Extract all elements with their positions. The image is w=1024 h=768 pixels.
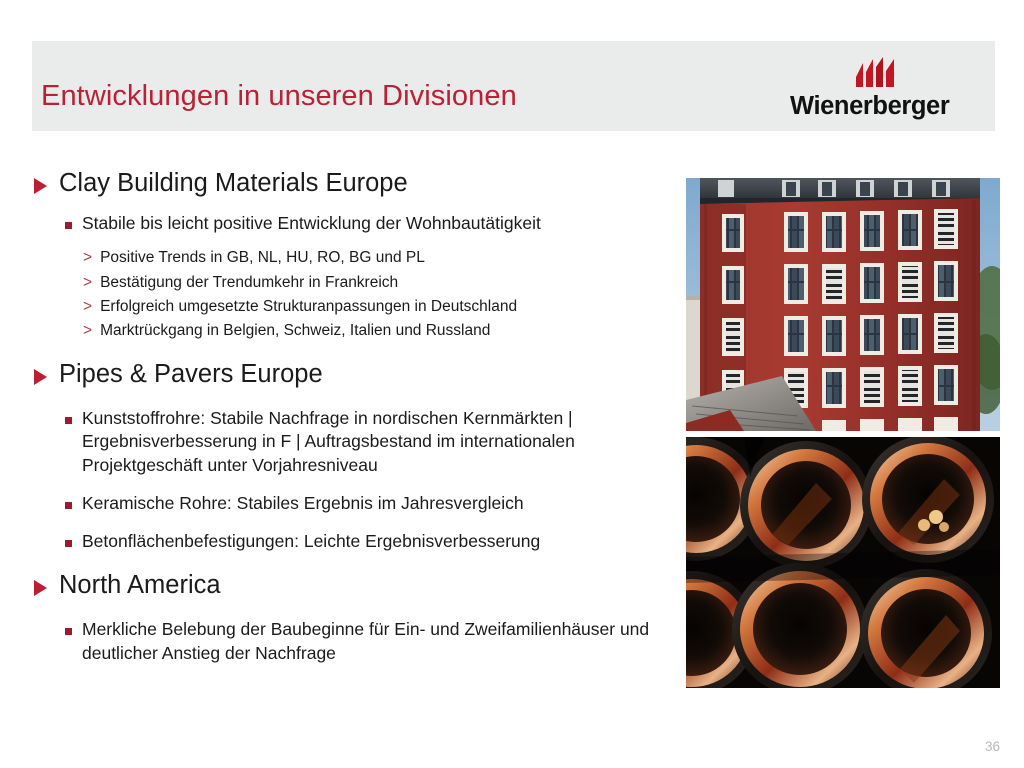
square-bullet-icon: [65, 222, 72, 229]
triangle-bullet-icon: [34, 178, 47, 194]
sub-bullet-item: > Marktrückgang in Belgien, Schweiz, Ita…: [32, 321, 682, 341]
section-heading-label: Pipes & Pavers Europe: [59, 359, 323, 390]
presentation-slide: Entwicklungen in unseren Divisionen Wien…: [0, 0, 1024, 768]
bullet-label: Merkliche Belebung der Baubeginne für Ei…: [82, 618, 682, 665]
bullet-label: Stabile bis leicht positive Entwicklung …: [82, 212, 541, 235]
section-heading: Clay Building Materials Europe: [32, 168, 682, 199]
section-heading: Pipes & Pavers Europe: [32, 359, 682, 390]
sub-bullet-label: Erfolgreich umgesetzte Strukturanpassung…: [100, 297, 517, 317]
bullet-item: Betonflächenbefestigungen: Leichte Ergeb…: [32, 530, 682, 553]
triangle-bullet-icon: [34, 580, 47, 596]
chevron-bullet-icon: >: [83, 297, 92, 317]
sub-bullet-label: Positive Trends in GB, NL, HU, RO, BG un…: [100, 248, 425, 268]
square-bullet-icon: [65, 417, 72, 424]
sub-bullet-label: Marktrückgang in Belgien, Schweiz, Itali…: [100, 321, 490, 341]
square-bullet-icon: [65, 540, 72, 547]
section-clay-building-materials-europe: Clay Building Materials Europe Stabile b…: [32, 168, 682, 341]
section-north-america: North America Merkliche Belebung der Bau…: [32, 570, 682, 665]
bullet-label: Keramische Rohre: Stabiles Ergebnis im J…: [82, 492, 524, 515]
square-bullet-icon: [65, 628, 72, 635]
logo-wordmark: Wienerberger: [790, 94, 949, 120]
wienerberger-flame-mark: [854, 57, 902, 87]
bullet-item: Kunststoffrohre: Stabile Nachfrage in no…: [32, 407, 682, 477]
square-bullet-icon: [65, 502, 72, 509]
sub-bullet-item: > Positive Trends in GB, NL, HU, RO, BG …: [32, 248, 682, 268]
sub-bullet-item: > Erfolgreich umgesetzte Strukturanpassu…: [32, 297, 682, 317]
wienerberger-logo: Wienerberger: [790, 57, 986, 119]
page-title: Entwicklungen in unseren Divisionen: [41, 80, 517, 113]
section-heading-label: Clay Building Materials Europe: [59, 168, 408, 199]
sub-bullet-item: > Bestätigung der Trendumkehr in Frankre…: [32, 273, 682, 293]
bullet-label: Betonflächenbefestigungen: Leichte Ergeb…: [82, 530, 540, 553]
sub-bullet-label: Bestätigung der Trendumkehr in Frankreic…: [100, 273, 398, 293]
chevron-bullet-icon: >: [83, 321, 92, 341]
chevron-bullet-icon: >: [83, 273, 92, 293]
chevron-bullet-icon: >: [83, 248, 92, 268]
page-number: 36: [985, 739, 1000, 754]
triangle-bullet-icon: [34, 369, 47, 385]
bullet-item: Merkliche Belebung der Baubeginne für Ei…: [32, 618, 682, 665]
photo-brick-apartment-building: [686, 178, 1000, 431]
bullet-label: Kunststoffrohre: Stabile Nachfrage in no…: [82, 407, 682, 477]
section-heading: North America: [32, 570, 682, 601]
bullet-item: Keramische Rohre: Stabiles Ergebnis im J…: [32, 492, 682, 515]
section-heading-label: North America: [59, 570, 221, 601]
section-pipes-and-pavers-europe: Pipes & Pavers Europe Kunststoffrohre: S…: [32, 359, 682, 553]
photo-ceramic-pipes: [686, 437, 1000, 688]
slide-content: Clay Building Materials Europe Stabile b…: [32, 168, 682, 668]
bullet-item: Stabile bis leicht positive Entwicklung …: [32, 212, 682, 235]
